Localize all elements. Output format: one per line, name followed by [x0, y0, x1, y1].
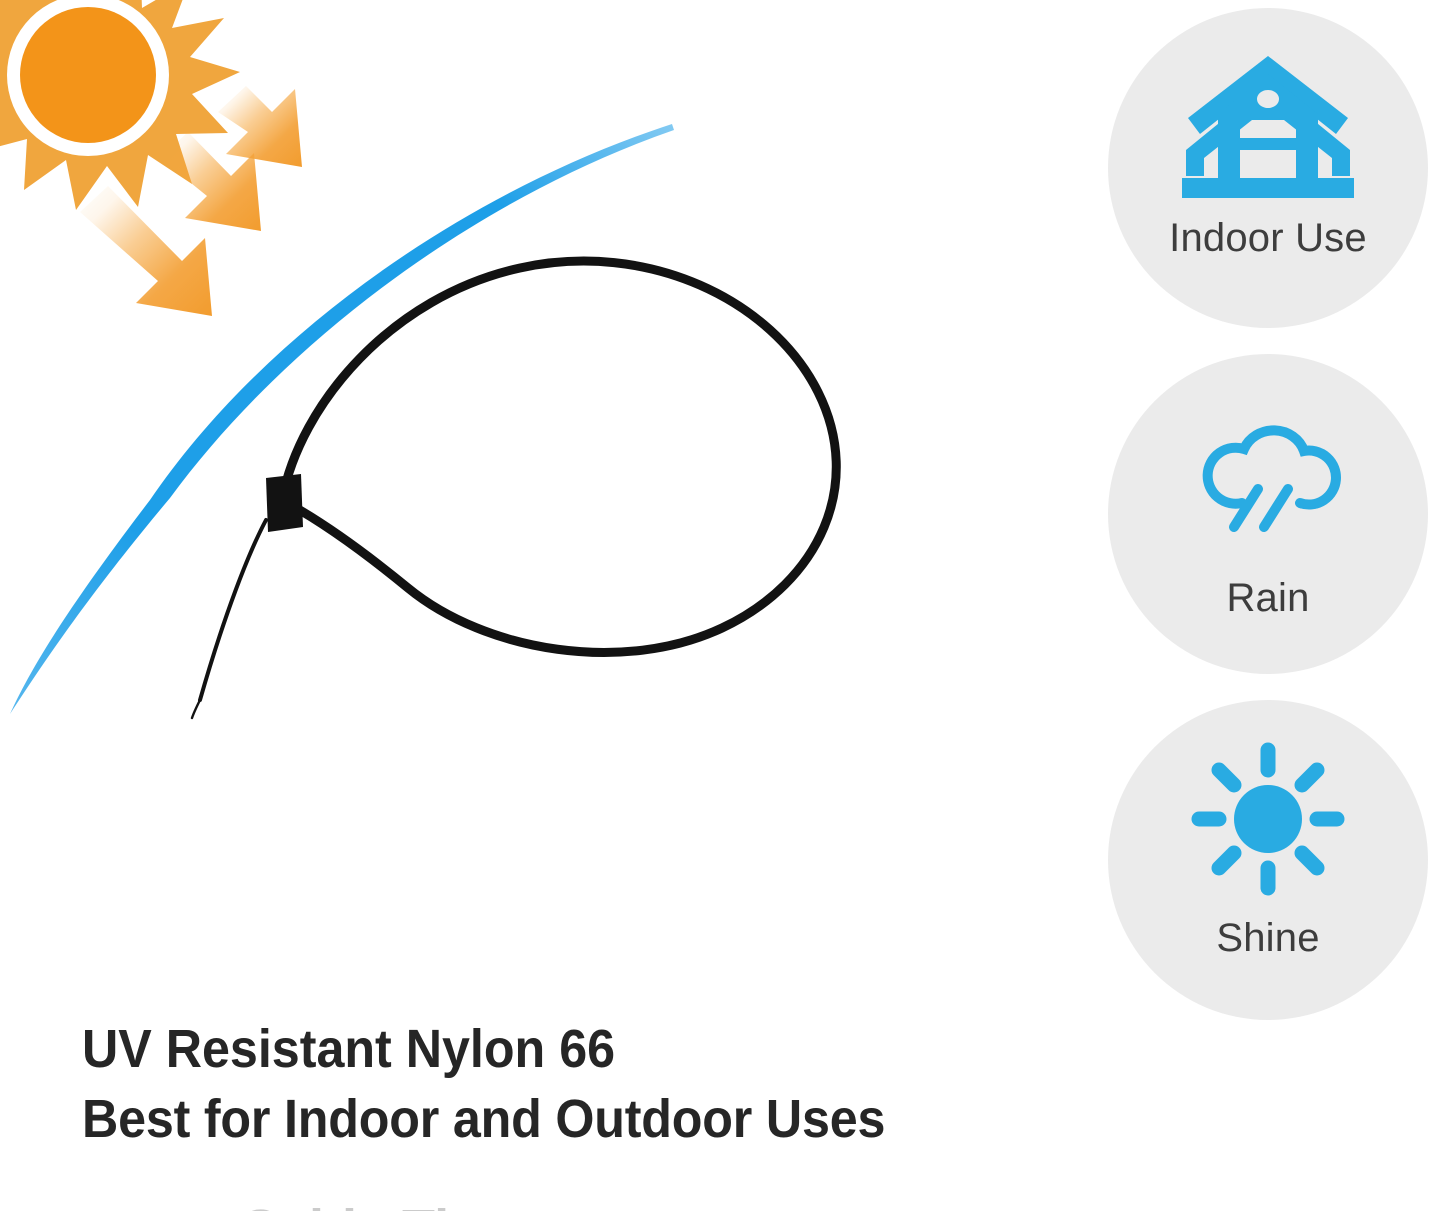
sun-shine-icon	[1182, 744, 1354, 894]
badge-shine[interactable]: Shine	[1108, 700, 1428, 1020]
badge-label-shine: Shine	[1216, 918, 1319, 958]
clipped-next-line: Cable Ties	[240, 1204, 1140, 1211]
headline-line-2: Best for Indoor and Outdoor Uses	[82, 1084, 1012, 1154]
clipped-next-line-text: Cable Ties	[240, 1204, 1140, 1211]
badge-label-rain: Rain	[1226, 578, 1309, 618]
cable-tie-illustration	[192, 261, 836, 718]
product-infographic: Indoor Use Rain	[0, 0, 1432, 1211]
house-icon	[1182, 54, 1354, 204]
feature-badge-column: Indoor Use Rain	[1108, 8, 1428, 1020]
uv-resistance-illustration	[0, 0, 1060, 960]
headline-block: UV Resistant Nylon 66 Best for Indoor an…	[82, 1014, 1082, 1154]
headline-line-1: UV Resistant Nylon 66	[82, 1014, 1012, 1084]
uv-ray-arrow-icon	[80, 186, 212, 316]
badge-indoor-use[interactable]: Indoor Use	[1108, 8, 1428, 328]
uv-ray-arrow-icon	[218, 86, 302, 167]
badge-label-indoor-use: Indoor Use	[1169, 218, 1367, 258]
rain-cloud-icon	[1182, 402, 1354, 552]
badge-rain[interactable]: Rain	[1108, 354, 1428, 674]
